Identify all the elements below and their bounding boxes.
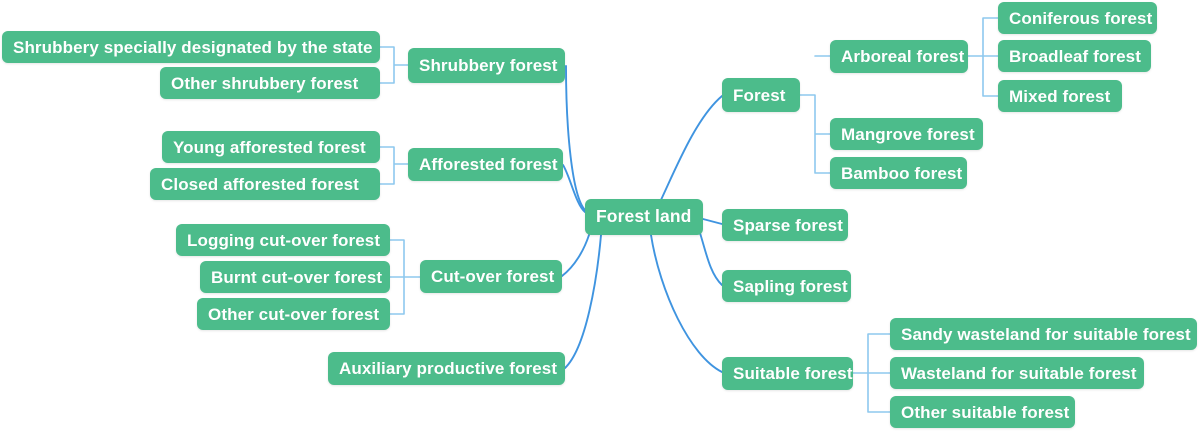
node-label: Arboreal forest <box>841 48 964 65</box>
arboreal-bracket <box>968 18 998 96</box>
root-to-afforested-forest <box>563 165 585 212</box>
root-to-auxiliary <box>565 235 601 368</box>
root-to-cut-over-forest <box>562 235 589 276</box>
node-label: Suitable forest <box>733 365 853 382</box>
node-label: Auxiliary productive forest <box>339 360 557 377</box>
forest-bracket <box>800 56 830 173</box>
node-forest[interactable]: Forest <box>722 78 800 112</box>
node-burnt-cut-over-forest[interactable]: Burnt cut-over forest <box>200 261 390 293</box>
node-afforested-forest[interactable]: Afforested forest <box>408 148 563 181</box>
root-to-suitable-forest <box>651 235 722 372</box>
node-shrubbery-specially-designated-by-the-state[interactable]: Shrubbery specially designated by the st… <box>2 31 380 63</box>
node-label: Shrubbery specially designated by the st… <box>13 39 373 56</box>
shrubbery-bracket <box>380 47 408 83</box>
afforested-bracket <box>380 147 408 184</box>
root-to-shrubbery-forest <box>566 66 585 210</box>
node-logging-cut-over-forest[interactable]: Logging cut-over forest <box>176 224 390 256</box>
node-label: Sandy wasteland for suitable forest <box>901 326 1191 343</box>
node-mixed-forest[interactable]: Mixed forest <box>998 80 1122 112</box>
node-sapling-forest[interactable]: Sapling forest <box>722 270 851 302</box>
node-sandy-wasteland-for-suitable-forest[interactable]: Sandy wasteland for suitable forest <box>890 318 1197 350</box>
root-to-sparse-forest <box>703 219 722 224</box>
node-auxiliary-productive-forest[interactable]: Auxiliary productive forest <box>328 352 565 385</box>
node-label: Other shrubbery forest <box>171 75 358 92</box>
node-shrubbery-forest[interactable]: Shrubbery forest <box>408 48 565 83</box>
node-closed-afforested-forest[interactable]: Closed afforested forest <box>150 168 380 200</box>
root-node[interactable]: Forest land <box>585 199 703 235</box>
node-cut-over-forest[interactable]: Cut-over forest <box>420 260 562 293</box>
node-sparse-forest[interactable]: Sparse forest <box>722 209 848 241</box>
node-label: Other suitable forest <box>901 404 1069 421</box>
node-other-shrubbery-forest[interactable]: Other shrubbery forest <box>160 67 380 99</box>
cut-over-bracket <box>390 240 420 314</box>
node-label: Broadleaf forest <box>1009 48 1141 65</box>
node-label: Coniferous forest <box>1009 10 1152 27</box>
node-bamboo-forest[interactable]: Bamboo forest <box>830 157 967 189</box>
node-label: Sparse forest <box>733 217 843 234</box>
node-label: Burnt cut-over forest <box>211 269 382 286</box>
node-arboreal-forest[interactable]: Arboreal forest <box>830 40 968 73</box>
node-label: Other cut-over forest <box>208 306 379 323</box>
node-other-suitable-forest[interactable]: Other suitable forest <box>890 396 1075 428</box>
node-label: Closed afforested forest <box>161 176 359 193</box>
node-mangrove-forest[interactable]: Mangrove forest <box>830 118 983 150</box>
node-young-afforested-forest[interactable]: Young afforested forest <box>162 131 380 163</box>
node-label: Wasteland for suitable forest <box>901 365 1137 382</box>
node-label: Afforested forest <box>419 156 558 173</box>
root-to-forest <box>660 96 722 202</box>
node-label: Cut-over forest <box>431 268 554 285</box>
node-label: Mangrove forest <box>841 126 975 143</box>
node-suitable-forest[interactable]: Suitable forest <box>722 357 853 390</box>
mind-map-canvas: Forest landShrubbery specially designate… <box>0 0 1200 431</box>
node-label: Mixed forest <box>1009 88 1110 105</box>
node-label: Shrubbery forest <box>419 57 558 74</box>
node-label: Young afforested forest <box>173 139 366 156</box>
node-other-cut-over-forest[interactable]: Other cut-over forest <box>197 298 390 330</box>
node-label: Logging cut-over forest <box>187 232 380 249</box>
root-to-sapling-forest <box>700 233 722 285</box>
suitable-bracket <box>853 334 890 412</box>
node-label: Forest land <box>596 208 691 226</box>
node-broadleaf-forest[interactable]: Broadleaf forest <box>998 40 1151 72</box>
node-label: Forest <box>733 87 786 104</box>
node-label: Bamboo forest <box>841 165 962 182</box>
node-coniferous-forest[interactable]: Coniferous forest <box>998 2 1157 34</box>
node-wasteland-for-suitable-forest[interactable]: Wasteland for suitable forest <box>890 357 1144 389</box>
node-label: Sapling forest <box>733 278 848 295</box>
